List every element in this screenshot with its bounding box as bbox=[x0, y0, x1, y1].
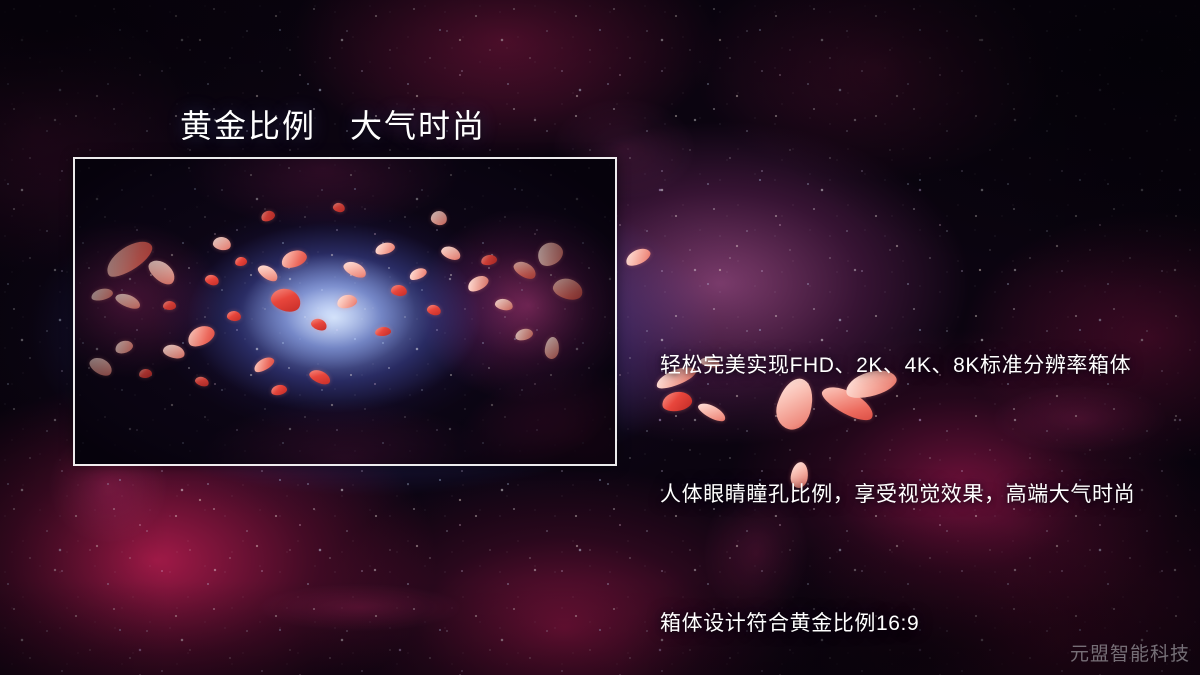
page-title: 黄金比例 大气时尚 bbox=[180, 101, 486, 147]
petal-shape bbox=[623, 245, 653, 269]
watermark-logo-text: 元盟智能科技 bbox=[1070, 639, 1190, 666]
slide-canvas: 黄金比例 大气时尚 轻松完美实现FHD、2K、4K、8K标准分辨率箱体 人体眼睛… bbox=[0, 0, 1200, 675]
preview-image-content bbox=[75, 159, 615, 464]
framed-preview-image[interactable] bbox=[73, 157, 617, 466]
body-line-2: 人体眼睛瞳孔比例，享受视觉效果，高端大气时尚 bbox=[660, 473, 1135, 516]
body-line-1: 轻松完美实现FHD、2K、4K、8K标准分辨率箱体 bbox=[660, 344, 1135, 387]
body-text-block: 轻松完美实现FHD、2K、4K、8K标准分辨率箱体 人体眼睛瞳孔比例，享受视觉效… bbox=[660, 258, 1135, 675]
body-line-3: 箱体设计符合黄金比例16:9 bbox=[660, 602, 1135, 645]
preview-vignette bbox=[75, 159, 615, 464]
